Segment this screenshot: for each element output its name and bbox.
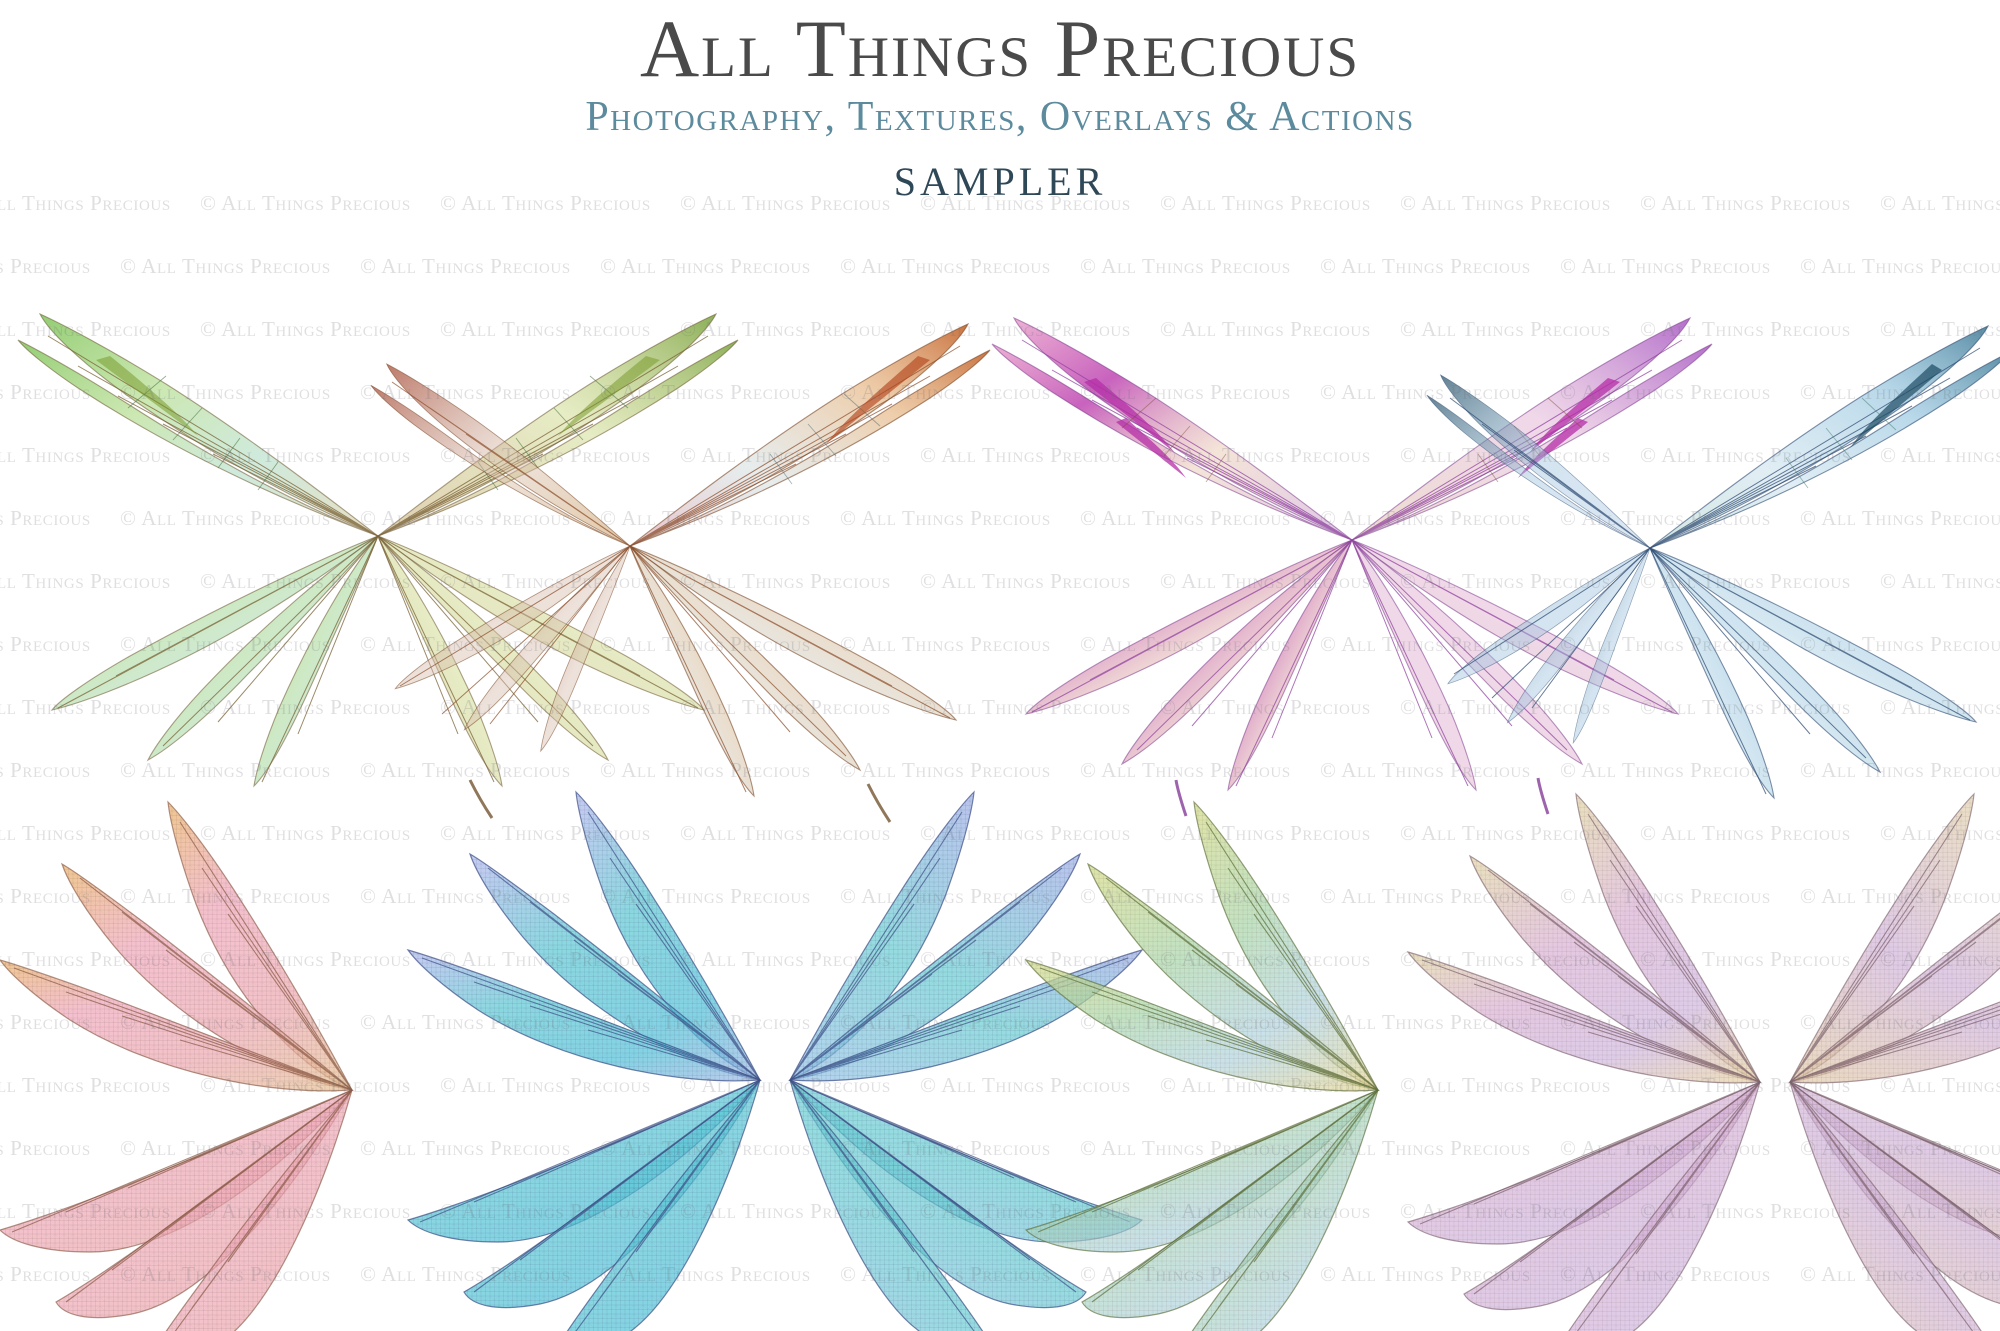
wing-pair-blue-teal[interactable] xyxy=(1427,326,2000,798)
stem-accents xyxy=(470,778,1548,822)
wing-pair-pink-magenta[interactable] xyxy=(992,318,1712,790)
sampler-page: All Things Precious Photography, Texture… xyxy=(0,0,2000,1331)
wing-pair-lilac-tan[interactable] xyxy=(1408,794,2000,1331)
page-header: All Things Precious Photography, Texture… xyxy=(0,0,2000,202)
sampler-label: SAMPLER xyxy=(0,162,2000,202)
page-title: All Things Precious xyxy=(0,6,2000,92)
wing-pair-green-yellow[interactable] xyxy=(1026,802,1378,1331)
wing-pair-aqua-turquoise[interactable] xyxy=(408,792,1142,1331)
page-subtitle: Photography, Textures, Overlays & Action… xyxy=(0,94,2000,140)
wing-pair-green-olive[interactable] xyxy=(18,314,738,786)
